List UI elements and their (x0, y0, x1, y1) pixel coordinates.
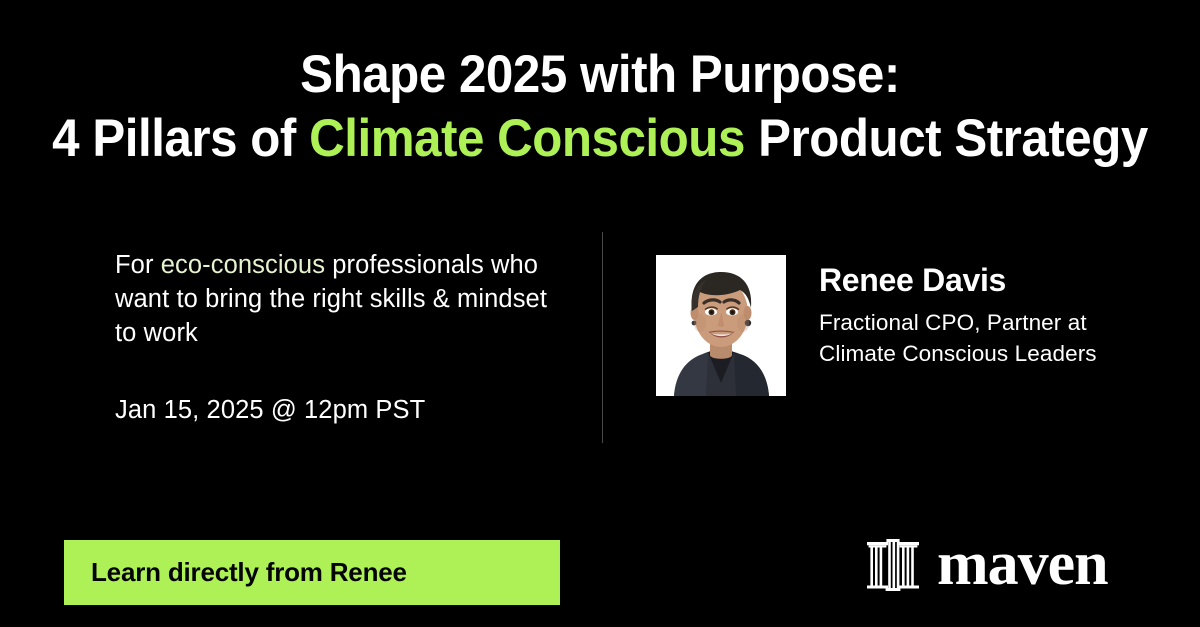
speaker-role-line-1: Fractional CPO, Partner at (819, 308, 1097, 339)
headline-line-2-suffix: Product Strategy (745, 109, 1148, 168)
promo-banner: Shape 2025 with Purpose: 4 Pillars of Cl… (0, 0, 1200, 627)
speaker-info: Renee Davis Fractional CPO, Partner at C… (819, 255, 1097, 369)
cta-button[interactable]: Learn directly from Renee (64, 540, 560, 605)
headline-line-1-text: Shape 2025 with Purpose: (300, 45, 900, 104)
maven-wordmark: maven (937, 539, 1108, 590)
audience-highlight: eco-conscious (161, 251, 325, 279)
page-title: Shape 2025 with Purpose: 4 Pillars of Cl… (0, 46, 1200, 169)
event-details: For eco-conscious professionals who want… (115, 248, 565, 425)
speaker-headshot-image (656, 255, 786, 396)
speaker-name: Renee Davis (819, 263, 1097, 298)
maven-logo[interactable]: maven (866, 536, 1108, 592)
headline-line-2: 4 Pillars of Climate Conscious Product S… (42, 110, 1158, 168)
maven-pillars-icon (866, 536, 920, 592)
headline-line-2-prefix: 4 Pillars of (52, 109, 309, 168)
headline-line-1: Shape 2025 with Purpose: (42, 46, 1158, 104)
cta-button-label: Learn directly from Renee (91, 557, 407, 588)
speaker-role-line-2: Climate Conscious Leaders (819, 339, 1097, 370)
avatar (656, 255, 786, 396)
speaker-card: Renee Davis Fractional CPO, Partner at C… (656, 255, 1097, 396)
audience-prefix: For (115, 251, 161, 279)
audience-description: For eco-conscious professionals who want… (115, 248, 565, 350)
column-divider (602, 232, 603, 443)
headline-highlight: Climate Conscious (309, 109, 745, 168)
event-datetime: Jan 15, 2025 @ 12pm PST (115, 396, 565, 425)
